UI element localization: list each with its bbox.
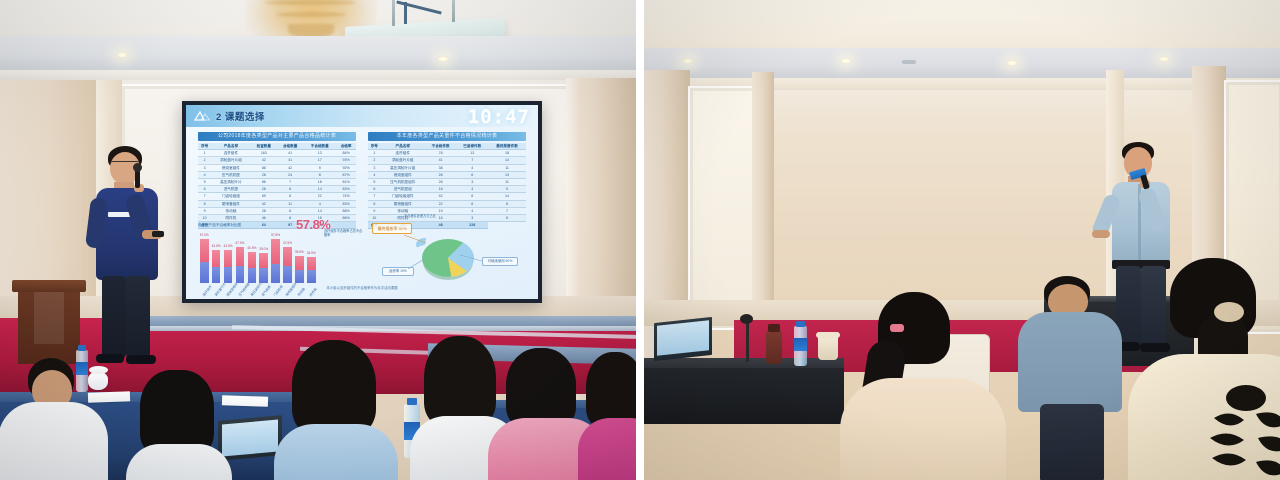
bar-segment-top bbox=[236, 247, 245, 266]
mic-stand-pole bbox=[746, 322, 749, 362]
table-row: 7门齿轮组组6982274% bbox=[198, 193, 356, 200]
shirt-graphic-icon bbox=[1200, 378, 1280, 480]
audience-left-6 bbox=[584, 352, 636, 480]
table-cell: 22 bbox=[303, 193, 336, 200]
table-cell: 42 bbox=[277, 164, 303, 171]
table-cell: 8 bbox=[198, 200, 211, 207]
bar-value-label: 35.5% bbox=[295, 250, 304, 254]
table-cell: 高压涡轮叶片组 bbox=[381, 164, 425, 171]
table-cell: 11 bbox=[277, 200, 303, 207]
presenter-hand-left bbox=[1092, 230, 1110, 238]
table-cell: 高压涡轮叶片 bbox=[211, 179, 251, 186]
bar-chart-bar: 40.5%高压涡轮叶片 bbox=[248, 252, 257, 283]
downlight-r1 bbox=[682, 58, 694, 64]
table-cell: 5 bbox=[198, 179, 211, 186]
table-cell: 18 bbox=[488, 150, 526, 157]
table-cell: 5 bbox=[368, 179, 381, 186]
audience-right-woman-1 bbox=[856, 292, 1006, 480]
table-cell: 7 bbox=[198, 193, 211, 200]
table-header-cell: 序号 bbox=[368, 143, 381, 150]
bar-chart-bar: 47.5%尾喷管组件 bbox=[283, 247, 292, 283]
table-cell: 86% bbox=[336, 215, 356, 222]
thermos-cap bbox=[768, 324, 780, 332]
table-row: 10附件机1638 bbox=[368, 215, 526, 222]
table-cell: 41 bbox=[277, 150, 303, 157]
bar-segment-top bbox=[295, 256, 304, 270]
audience-torso bbox=[1018, 312, 1122, 412]
table-cell: 87% bbox=[336, 171, 356, 178]
table-cell: 3 bbox=[368, 164, 381, 171]
table-cell: 84% bbox=[336, 150, 356, 157]
table-cell: 88% bbox=[336, 207, 356, 214]
table-cell: 13 bbox=[303, 150, 336, 157]
pie-legend: 不合格件处理方式占比 bbox=[404, 213, 436, 218]
table-cell: 10 bbox=[368, 215, 381, 222]
table-cell: 进气机匣组 bbox=[381, 186, 425, 193]
bar-segment-top bbox=[200, 239, 209, 262]
coffee-cup bbox=[818, 336, 838, 360]
bar-segment-bottom bbox=[283, 266, 292, 283]
table-cell: 81% bbox=[336, 179, 356, 186]
callout-leader-line-2 bbox=[408, 255, 428, 271]
bottle-cap-right bbox=[796, 321, 805, 327]
table-cell: 6 bbox=[456, 193, 488, 200]
table-row: 10附件机4681686% bbox=[198, 215, 356, 222]
audience-torso bbox=[840, 378, 1006, 480]
table-cell: 93% bbox=[336, 157, 356, 164]
bar-value-label: 34.5% bbox=[307, 251, 316, 255]
audience-torso bbox=[0, 402, 108, 480]
table-cell: 86 bbox=[251, 179, 277, 186]
table-cell: 38 bbox=[425, 164, 457, 171]
audience-left-2 bbox=[132, 370, 224, 480]
table-row: 1连杆组件761318 bbox=[368, 150, 526, 157]
bar-value-label: 40.5% bbox=[247, 246, 256, 250]
ceiling-soffit-right bbox=[644, 48, 1280, 78]
table-cell: 14 bbox=[303, 186, 336, 193]
table-cell: 6 bbox=[456, 171, 488, 178]
table-cell: 22 bbox=[425, 200, 457, 207]
bar-value-label: 39.0% bbox=[259, 247, 268, 251]
table-header-cell: 合格数量 bbox=[277, 143, 303, 150]
audience-torso bbox=[274, 424, 398, 480]
table-row: 8尾喷管组件2268 bbox=[368, 200, 526, 207]
bar-segment-bottom bbox=[259, 268, 268, 283]
table-row: 2涡轮盘叶片组42411793% bbox=[198, 157, 356, 164]
table-cell: 附件机 bbox=[211, 215, 251, 222]
table-header-cell: 不合格数量 bbox=[303, 143, 336, 150]
thermos bbox=[766, 330, 782, 364]
table-cell: 14 bbox=[303, 207, 336, 214]
table-header-cell: 最终报废件数 bbox=[488, 143, 526, 150]
table-footer-cell: 228 bbox=[456, 222, 488, 229]
audience-right-woman-2 bbox=[1144, 258, 1280, 480]
podium-inlay bbox=[34, 292, 64, 344]
table-cell: 连杆组件 bbox=[381, 150, 425, 157]
ceiling-soffit-lower bbox=[0, 70, 636, 80]
callout-reusable-rate: 可继续使用 50% bbox=[482, 257, 518, 266]
table-cell: 尾喷管组件 bbox=[211, 200, 251, 207]
bar-chart: 57.0%连杆组件43.5%涡轮盘叶片43.5%燃烧室组件47.0%压气机机匣4… bbox=[200, 231, 316, 283]
laptop-screen-glow-right bbox=[657, 320, 709, 355]
right-photo-panel: 一、课题背景 12:29 为 我公司承担着国家某种关键 bbox=[644, 0, 1280, 480]
table-cell: 163 bbox=[251, 150, 277, 157]
bar-chart-bar: 47.0%压气机机匣 bbox=[236, 247, 245, 283]
table-header-row: 序号产品名称不合格件数已返修件数最终报废件数 bbox=[368, 143, 526, 150]
table-header-cell: 不合格件数 bbox=[425, 143, 457, 150]
audience-hair bbox=[506, 348, 576, 428]
table-header-cell: 合格率 bbox=[336, 143, 356, 150]
table-cell: 42 bbox=[251, 157, 277, 164]
downlight-r2 bbox=[840, 58, 852, 64]
table-cell: 14 bbox=[488, 157, 526, 164]
laptop-screen-glow bbox=[222, 420, 278, 457]
table-cell: 28 bbox=[425, 171, 457, 178]
table-footer-cell: 48 bbox=[425, 222, 457, 229]
table-cell: 压气机机匣 bbox=[211, 171, 251, 178]
ceiling-soffit bbox=[0, 36, 636, 70]
downlight-1 bbox=[116, 52, 128, 58]
table-row: 3燃烧室组件8642992% bbox=[198, 164, 356, 171]
table-cell: 4 bbox=[303, 200, 336, 207]
microphone-head bbox=[133, 163, 142, 172]
bar-chart-caption: 各类型产品不合格率对比图 bbox=[198, 223, 241, 228]
slide-footer-note: 本小组以连杆组件的不合格率作为本次活动课题 bbox=[186, 285, 538, 290]
presentation-table bbox=[644, 368, 844, 424]
audience-legs bbox=[1040, 404, 1104, 480]
table-cell: 14 bbox=[488, 193, 526, 200]
bar-value-label: 43.5% bbox=[212, 244, 221, 248]
table-cell: 13 bbox=[488, 171, 526, 178]
table-header-cell: 产品名称 bbox=[381, 143, 425, 150]
table-footer-cell bbox=[336, 222, 356, 229]
table-cell: 4 bbox=[456, 207, 488, 214]
table-cell: 2 bbox=[198, 157, 211, 164]
table-cell: 18 bbox=[425, 186, 457, 193]
bar-segment-bottom bbox=[224, 267, 233, 283]
audience-left-1 bbox=[10, 358, 106, 480]
table-left-caption: 公司2018年度各类型产品对主要产品合格品统计表 bbox=[198, 132, 356, 141]
table-cell: 41 bbox=[425, 157, 457, 164]
table-cell: 尾喷管组件 bbox=[381, 200, 425, 207]
coffee-cup-lid bbox=[816, 332, 840, 338]
table-cell: 13 bbox=[456, 150, 488, 157]
bar-segment-top bbox=[212, 250, 221, 267]
table-cell: 92% bbox=[336, 164, 356, 171]
table-row: 4燃烧室组件28613 bbox=[368, 171, 526, 178]
table-cell: 压气机机匣组件 bbox=[381, 179, 425, 186]
table-cell: 9 bbox=[488, 186, 526, 193]
bar-segment-top bbox=[307, 257, 316, 270]
image-root: 2 课题选择 10:47 公司2018年度各类型产品对主要产品合格品统计表 序号… bbox=[0, 0, 1280, 480]
table-cell: 门齿轮组组 bbox=[211, 193, 251, 200]
presenter-clicker bbox=[152, 231, 164, 237]
downlight-2 bbox=[437, 56, 449, 62]
bar-value-label: 47.0% bbox=[235, 241, 244, 245]
table-right-caption: 本年度各类型产品关重件不合格情况统计表 bbox=[368, 132, 526, 141]
fixture-bar-2 bbox=[404, 2, 407, 24]
bottle-label-right bbox=[794, 338, 807, 351]
table-cell: 3 bbox=[456, 179, 488, 186]
table-cell: 28 bbox=[251, 171, 277, 178]
panel-divider bbox=[636, 0, 644, 480]
screen-surface: 2 课题选择 10:47 公司2018年度各类型产品对主要产品合格品统计表 序号… bbox=[186, 105, 538, 299]
table-cell: 83% bbox=[336, 200, 356, 207]
table-cell: 42 bbox=[251, 200, 277, 207]
presenter-left bbox=[78, 146, 174, 372]
table-cell: 26 bbox=[425, 179, 457, 186]
table-cell: 进气机匣 bbox=[211, 186, 251, 193]
left-photo-panel: 2 课题选择 10:47 公司2018年度各类型产品对主要产品合格品统计表 序号… bbox=[0, 0, 636, 480]
table-footer-cell: 64 bbox=[251, 222, 277, 229]
table-header-cell: 检查数量 bbox=[251, 143, 277, 150]
bar-segment-bottom bbox=[236, 266, 245, 283]
table-cell: 11 bbox=[488, 179, 526, 186]
hair-scrunchie bbox=[1214, 302, 1244, 322]
table-cell: 3 bbox=[456, 215, 488, 222]
table-header-cell: 产品名称 bbox=[211, 143, 251, 150]
bar-chart-bar: 43.5%燃烧室组件 bbox=[224, 250, 233, 283]
projection-screen-left: 2 课题选择 10:47 公司2018年度各类型产品对主要产品合格品统计表 序号… bbox=[182, 101, 542, 303]
bar-segment-bottom bbox=[212, 267, 221, 283]
table-cell: 7 bbox=[368, 193, 381, 200]
right-wall-panel-1 bbox=[688, 86, 758, 330]
table-cell: 4 bbox=[198, 171, 211, 178]
bottle-cap-1 bbox=[78, 345, 86, 351]
table-row: 5压气机机匣组件26311 bbox=[368, 179, 526, 186]
table-cell: 11 bbox=[488, 164, 526, 171]
bar-chart-bar: 43.5%涡轮盘叶片 bbox=[212, 250, 221, 283]
audience-hair bbox=[586, 352, 636, 428]
presenter-leg-left bbox=[102, 276, 126, 358]
table-left: 序号产品名称检查数量合格数量不合格数量合格率1连杆组件163411384%2涡轮… bbox=[198, 143, 356, 229]
table-row: 9传动轴2881488% bbox=[198, 207, 356, 214]
presenter-shoe-right bbox=[126, 355, 156, 364]
bar-value-label: 47.5% bbox=[283, 241, 292, 245]
table-cell: 28 bbox=[251, 207, 277, 214]
table-cell: 17 bbox=[303, 157, 336, 164]
table-cell: 8 bbox=[277, 207, 303, 214]
table-row: 1连杆组件163411384% bbox=[198, 150, 356, 157]
bar-segment-bottom bbox=[248, 268, 257, 283]
table-cell: 7 bbox=[277, 179, 303, 186]
bar-segment-bottom bbox=[271, 264, 280, 283]
podium-top bbox=[12, 280, 86, 292]
presenter-leg-right bbox=[126, 276, 150, 358]
audience-torso bbox=[578, 418, 636, 480]
table-cell: 1 bbox=[198, 150, 211, 157]
table-cell: 燃烧室组件 bbox=[381, 171, 425, 178]
ceiling-vent bbox=[902, 60, 916, 64]
bar-segment-bottom bbox=[295, 270, 304, 283]
audience-torso bbox=[126, 444, 232, 480]
table-cell: 4 bbox=[456, 164, 488, 171]
table-cell: 涡轮盘叶片组 bbox=[381, 157, 425, 164]
table-cell: 4 bbox=[368, 171, 381, 178]
table-row: 3高压涡轮叶片组38411 bbox=[368, 164, 526, 171]
table-cell: 3 bbox=[198, 164, 211, 171]
audience-hair bbox=[292, 340, 376, 436]
table-cell: 2 bbox=[368, 157, 381, 164]
bar-chart-bar: 57.8%门齿轮组 bbox=[271, 239, 280, 283]
table-cell: 连杆组件 bbox=[211, 150, 251, 157]
bar-value-label: 57.0% bbox=[200, 233, 209, 237]
table-right: 序号产品名称不合格件数已返修件数最终报废件数1连杆组件7613182涡轮盘叶片组… bbox=[368, 143, 526, 229]
paper-stack-2 bbox=[222, 395, 268, 407]
table-cell: 燃烧室组件 bbox=[211, 164, 251, 171]
table-cell: 涡轮盘叶片组 bbox=[211, 157, 251, 164]
slide-title: 2 课题选择 bbox=[216, 109, 265, 123]
bar-value-label: 43.5% bbox=[224, 244, 233, 248]
table-cell: 9 bbox=[198, 207, 211, 214]
table-cell: 8 bbox=[488, 215, 526, 222]
highlight-note: 连杆组件不合格率占总不合格率 bbox=[324, 229, 364, 238]
downlight-r4 bbox=[1158, 56, 1170, 62]
mic-stand-head bbox=[740, 314, 753, 324]
table-cell: 41 bbox=[277, 157, 303, 164]
table-cell: 9 bbox=[303, 164, 336, 171]
bar-segment-top bbox=[271, 239, 280, 265]
table-cell: 8 bbox=[488, 200, 526, 207]
table-row: 9传动轴1947 bbox=[368, 207, 526, 214]
slide-canvas: 2 课题选择 10:47 公司2018年度各类型产品对主要产品合格品统计表 序号… bbox=[186, 105, 538, 299]
stage-platform-edge bbox=[120, 316, 636, 326]
table-cell: 6 bbox=[456, 200, 488, 207]
table-row: 6进气机匣组1849 bbox=[368, 186, 526, 193]
table-cell: 4 bbox=[456, 186, 488, 193]
table-header-cell: 序号 bbox=[198, 143, 211, 150]
table-cell: 8 bbox=[368, 200, 381, 207]
table-row: 2涡轮盘叶片组41714 bbox=[368, 157, 526, 164]
audience-hair bbox=[424, 336, 496, 426]
table-row: 7门齿轮组组件42614 bbox=[368, 193, 526, 200]
table-cell: 24 bbox=[277, 171, 303, 178]
table-cell: 8 bbox=[277, 186, 303, 193]
bar-segment-bottom bbox=[307, 270, 316, 283]
table-cell: 86 bbox=[251, 164, 277, 171]
bar-chart-bar: 57.0%连杆组件 bbox=[200, 239, 209, 283]
callout-leader-line-3 bbox=[458, 251, 484, 265]
bar-segment-bottom bbox=[200, 262, 209, 283]
table-cell: 门齿轮组组件 bbox=[381, 193, 425, 200]
callout-leader-line-1 bbox=[404, 233, 428, 245]
table-cell: 8 bbox=[277, 193, 303, 200]
mountain-logo-icon bbox=[194, 110, 211, 122]
bar-segment-top bbox=[283, 247, 292, 267]
bar-value-label: 57.8% bbox=[271, 233, 280, 237]
audience-right-man bbox=[1022, 276, 1118, 480]
table-row: 8尾喷管组件4211483% bbox=[198, 200, 356, 207]
bar-segment-top bbox=[248, 252, 257, 268]
table-cell: 7 bbox=[456, 157, 488, 164]
bar-segment-top bbox=[259, 253, 268, 268]
table-cell: 传动轴 bbox=[211, 207, 251, 214]
countdown-timer-left: 10:47 bbox=[468, 106, 530, 128]
table-cell: 83% bbox=[336, 186, 356, 193]
table-cell: 8 bbox=[303, 171, 336, 178]
table-header-cell: 已返修件数 bbox=[456, 143, 488, 150]
table-cell: 69 bbox=[251, 193, 277, 200]
bar-chart-bar: 34.5%附件机 bbox=[307, 257, 316, 283]
bar-chart-bar: 39.0%进气机匣 bbox=[259, 253, 268, 283]
table-cell: 42 bbox=[425, 193, 457, 200]
table-cell: 1 bbox=[368, 150, 381, 157]
audience-left-3 bbox=[282, 340, 390, 480]
bar-segment-top bbox=[224, 250, 233, 267]
table-row: 5高压涡轮叶片8671881% bbox=[198, 179, 356, 186]
table-cell: 7 bbox=[488, 207, 526, 214]
table-cell: 6 bbox=[198, 186, 211, 193]
table-cell: 6 bbox=[368, 186, 381, 193]
table-cell: 18 bbox=[303, 179, 336, 186]
hair-tie bbox=[890, 324, 904, 332]
table-header-row: 序号产品名称检查数量合格数量不合格数量合格率 bbox=[198, 143, 356, 150]
table-cell: 76 bbox=[425, 150, 457, 157]
table-cell: 74% bbox=[336, 193, 356, 200]
fixture-rod-2 bbox=[452, 0, 455, 22]
table-row: 6进气机匣2881483% bbox=[198, 186, 356, 193]
downlight-r3 bbox=[1006, 60, 1018, 66]
table-cell: 10 bbox=[198, 215, 211, 222]
bar-chart-bar: 35.5%传动轴 bbox=[295, 256, 304, 283]
fixture-rod-1 bbox=[392, 0, 395, 26]
table-row: 4压气机机匣2824887% bbox=[198, 171, 356, 178]
table-cell: 46 bbox=[251, 215, 277, 222]
table-cell: 9 bbox=[368, 207, 381, 214]
table-cell: 28 bbox=[251, 186, 277, 193]
